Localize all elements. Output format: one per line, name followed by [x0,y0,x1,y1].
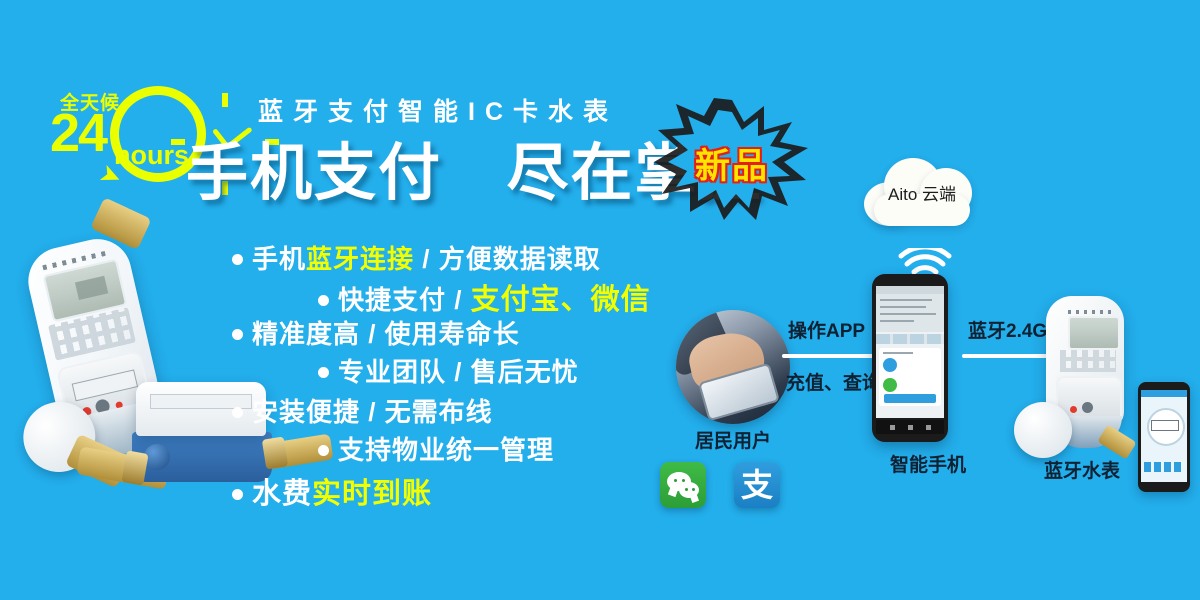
bullet-2-highlight: 支付宝、微信 [471,284,651,316]
bullet-4-text: 专业团队 / 售后无忧 [338,357,579,387]
starburst-label: 新品 [652,138,812,189]
bullet-dot-icon [318,445,329,456]
feature-bullet-5: 安装便捷 / 无需布线 [232,392,493,429]
bullet-dot-icon [318,295,329,306]
feature-bullet-3: 精准度高 / 使用寿命长 [232,314,520,351]
bullet-7-pre: 水费 [252,478,312,510]
resident-user-photo [676,310,790,424]
bullet-dot-icon [232,489,243,500]
bullet-7-highlight: 实时到账 [312,478,432,510]
alipay-glyph: 支 [734,463,780,507]
badge-number: 24 [50,106,106,160]
bluetooth-meter-label: 蓝牙水表 [1012,456,1152,483]
wechat-pay-icon [660,462,706,508]
bullet-1-highlight: 蓝牙连接 [306,244,414,274]
operate-app-label: 操作APP [788,316,865,343]
bullet-1-post: / 方便数据读取 [414,244,601,274]
meter-app-phone-photo [1138,382,1190,492]
bullet-6-text: 支持物业统一管理 [338,435,554,465]
headline-part-1: 手机支付 [186,139,442,208]
alipay-icon: 支 [734,462,780,508]
feature-bullet-4: 专业团队 / 售后无忧 [318,352,579,389]
feature-bullet-6: 支持物业统一管理 [318,430,554,467]
bullet-dot-icon [232,254,243,265]
feature-bullet-2: 快捷支付 / 支付宝、微信 [318,276,651,318]
bullet-dot-icon [232,407,243,418]
promo-banner: ➤ 全天候 24 hours 蓝牙支付智能IC卡水表 手机支付 尽在掌握 新品 [0,0,1200,600]
new-product-starburst: 新品 [652,96,812,222]
smartphone-photo [872,274,948,442]
resident-user-label: 居民用户 [676,426,790,453]
cloud-label: Aito 云端 [858,180,986,205]
bullet-3-text: 精准度高 / 使用寿命长 [252,319,520,349]
recharge-query-label: 充值、查询 [786,368,881,395]
bullet-2-pre: 快捷支付 / [338,285,471,315]
bullet-5-text: 安装便捷 / 无需布线 [252,397,493,427]
cloud-server-node: Aito 云端 [858,152,986,228]
feature-bullet-7: 水费实时到账 [232,470,432,512]
bullet-dot-icon [232,329,243,340]
bullet-dot-icon [318,367,329,378]
smartphone-label: 智能手机 [872,450,984,477]
feature-bullet-1: 手机蓝牙连接 / 方便数据读取 [232,239,601,276]
bullet-1-pre: 手机 [252,244,306,274]
badge-unit: hours [114,142,189,169]
